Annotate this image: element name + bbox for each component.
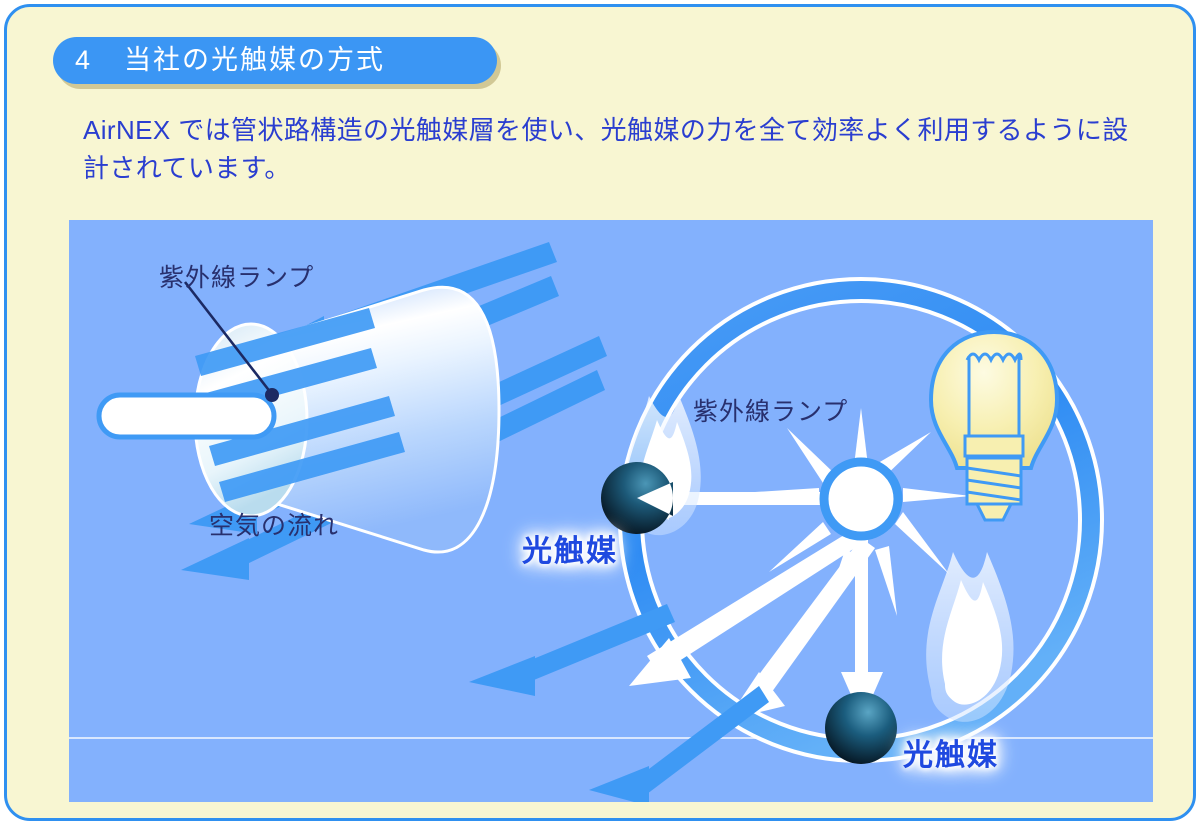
label-air-flow: 空気の流れ bbox=[209, 506, 339, 542]
photocatalyst-particle bbox=[825, 692, 897, 764]
section-title-badge: 4 当社の光触媒の方式 bbox=[53, 37, 497, 84]
label-uv-lamp-left: 紫外線ランプ bbox=[159, 258, 314, 294]
uv-lamp-tube-icon bbox=[99, 395, 274, 437]
section-number: 4 bbox=[75, 47, 90, 74]
page-title: 当社の光触媒の方式 bbox=[124, 47, 385, 74]
label-uv-lamp-right: 紫外線ランプ bbox=[693, 392, 848, 428]
body-paragraph: AirNEX では管状路構造の光触媒層を使い、光触媒の力を全て効率よく利用するよ… bbox=[83, 111, 1153, 188]
slide-frame: 4 当社の光触媒の方式 AirNEX では管状路構造の光触媒層を使い、光触媒の力… bbox=[4, 4, 1196, 821]
label-photocatalyst-upper: 光触媒 bbox=[522, 526, 618, 570]
light-bulb-icon bbox=[931, 332, 1057, 520]
flame-icon bbox=[926, 552, 1013, 722]
exit-arrow bbox=[589, 686, 769, 802]
badge-pill: 4 当社の光触媒の方式 bbox=[53, 37, 497, 84]
label-photocatalyst-lower: 光触媒 bbox=[903, 730, 999, 774]
diagram-panel: 紫外線ランプ 空気の流れ 紫外線ランプ 光触媒 光触媒 bbox=[69, 220, 1153, 802]
